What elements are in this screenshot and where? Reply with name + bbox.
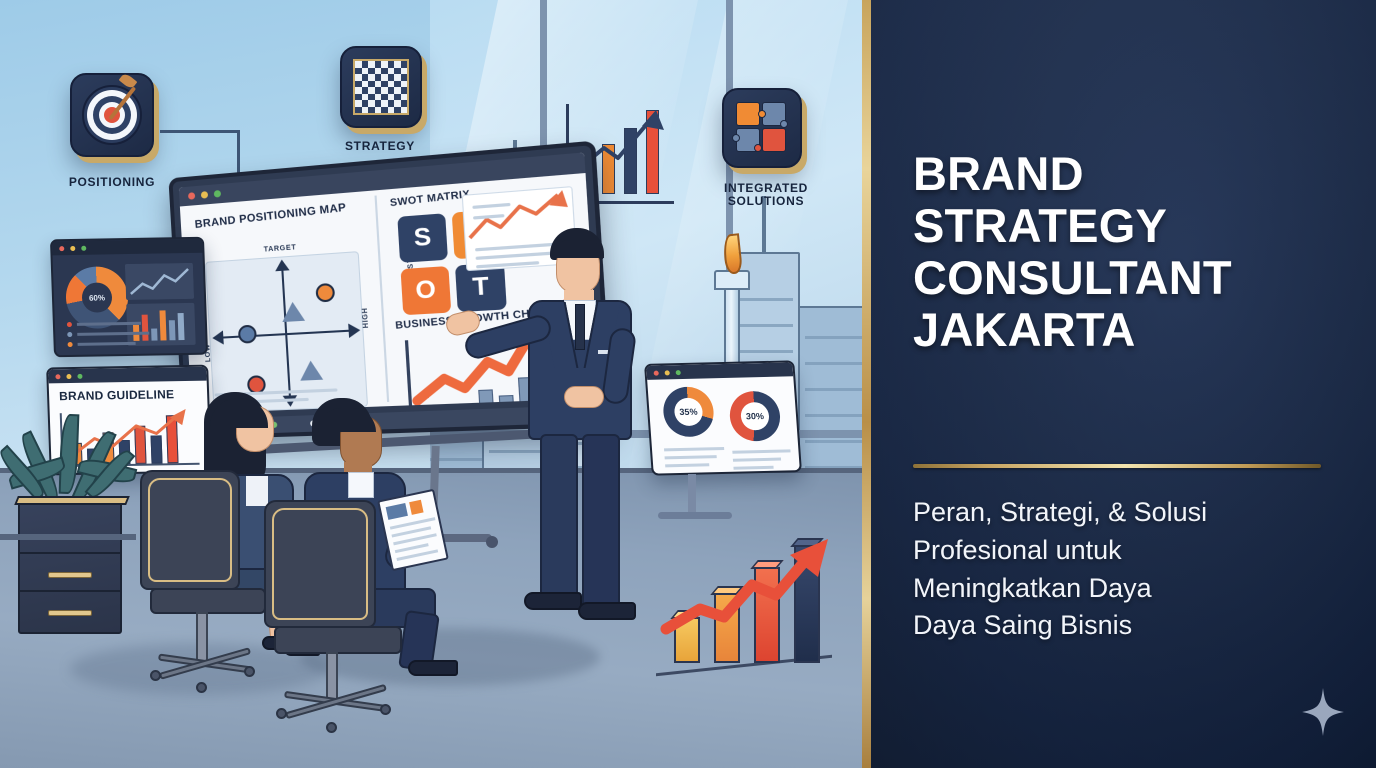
presenter-person bbox=[502, 228, 662, 648]
hair-front bbox=[552, 240, 604, 258]
resting-hand bbox=[564, 386, 604, 408]
swot-matrix-title: SWOT MATRIX bbox=[389, 189, 470, 210]
baseboard bbox=[0, 534, 136, 540]
brand-guideline-title: BRAND GUIDELINE bbox=[59, 387, 175, 403]
strategy-icon-tile[interactable] bbox=[340, 46, 422, 128]
donut-value-2: 30% bbox=[740, 402, 770, 431]
office-chair-2 bbox=[260, 500, 420, 740]
positioning-icon-tile[interactable] bbox=[70, 73, 154, 157]
line-chart bbox=[125, 263, 194, 300]
shoe-left bbox=[524, 592, 582, 610]
close-dot-icon[interactable] bbox=[59, 246, 64, 251]
connector-line bbox=[160, 130, 240, 133]
positioning-tile-label: POSITIONING bbox=[52, 176, 172, 189]
armrest bbox=[274, 626, 402, 654]
minimize-dot-icon[interactable] bbox=[201, 191, 208, 199]
donut-chart-1: 35% bbox=[662, 386, 716, 437]
headline-line-3: CONSULTANT bbox=[913, 252, 1363, 304]
axis-label-top: TARGET bbox=[264, 244, 297, 253]
kpi-card-base bbox=[658, 512, 732, 519]
minimize-dot-icon[interactable] bbox=[70, 245, 75, 250]
card-titlebar bbox=[52, 239, 202, 256]
maximize-dot-icon[interactable] bbox=[77, 373, 82, 378]
brand-positioning-map-title: BRAND POSITIONING MAP bbox=[194, 202, 346, 231]
map-marker bbox=[238, 325, 257, 344]
minimize-dot-icon[interactable] bbox=[665, 370, 670, 375]
stand-caster bbox=[486, 536, 498, 548]
chessboard-icon bbox=[353, 59, 409, 115]
text-panel: BRAND STRATEGY CONSULTANT JAKARTA Peran,… bbox=[871, 0, 1376, 768]
map-marker bbox=[281, 301, 305, 322]
tie bbox=[575, 304, 585, 350]
integrated-solutions-tile-label: INTEGRATED SOLUTIONS bbox=[710, 182, 822, 208]
donut-chart-2: 30% bbox=[728, 391, 782, 442]
poster-canvas: POSITIONING STRATEGY bbox=[0, 0, 1376, 768]
subtitle-line-4: Daya Saing Bisnis bbox=[913, 607, 1313, 645]
card-titlebar bbox=[646, 362, 793, 380]
leg-left bbox=[540, 434, 578, 600]
headline-line-1: BRAND bbox=[913, 148, 1363, 200]
axis-arrow bbox=[212, 330, 224, 345]
armrest bbox=[150, 588, 266, 614]
headline-line-2: STRATEGY bbox=[913, 200, 1363, 252]
puzzle-pieces-icon bbox=[736, 102, 788, 154]
sparkle-icon bbox=[1302, 688, 1344, 736]
brand-positioning-panel: BRAND POSITIONING MAP TARGET TARGET LOW … bbox=[188, 196, 383, 409]
monas-flame bbox=[722, 233, 743, 275]
gold-accent-rule bbox=[913, 464, 1321, 468]
close-dot-icon[interactable] bbox=[188, 192, 195, 200]
map-marker bbox=[315, 283, 335, 303]
close-dot-icon[interactable] bbox=[55, 374, 60, 379]
office-chair-1 bbox=[134, 470, 274, 700]
leg-right bbox=[582, 434, 620, 610]
shirt-collar bbox=[348, 472, 374, 498]
swot-cell-s: S bbox=[397, 213, 448, 263]
floor-growth-chart bbox=[652, 545, 852, 685]
filing-cabinet[interactable] bbox=[18, 502, 122, 634]
page-title: BRAND STRATEGY CONSULTANT JAKARTA bbox=[913, 148, 1363, 356]
headline-line-4: JAKARTA bbox=[913, 304, 1363, 356]
drawer-handle[interactable] bbox=[48, 610, 92, 616]
axis-arrow bbox=[275, 259, 290, 271]
card-titlebar bbox=[48, 367, 206, 384]
donut-value-label: 60% bbox=[81, 282, 112, 313]
growth-arrow-icon bbox=[652, 539, 852, 679]
target-dartboard-icon bbox=[82, 85, 142, 145]
strategy-tile-label: STRATEGY bbox=[330, 140, 430, 153]
map-marker bbox=[299, 360, 323, 381]
donut-chart: 60% bbox=[65, 266, 129, 329]
subtitle-line-1: Peran, Strategi, & Solusi bbox=[913, 494, 1313, 532]
axis-label-right: HIGH bbox=[362, 307, 371, 328]
gold-vertical-divider bbox=[862, 0, 871, 768]
page-subtitle: Peran, Strategi, & Solusi Profesional un… bbox=[913, 494, 1313, 645]
minimize-dot-icon[interactable] bbox=[66, 374, 71, 379]
illustration-panel: POSITIONING STRATEGY bbox=[0, 0, 866, 768]
axis-arrow bbox=[348, 323, 361, 338]
subtitle-line-3: Meningkatkan Daya bbox=[913, 570, 1313, 608]
analytics-dashboard-card[interactable]: 60% bbox=[50, 237, 208, 358]
donut-value-1: 35% bbox=[674, 398, 704, 427]
kpi-donuts-card[interactable]: 35% 30% bbox=[644, 360, 802, 475]
drawer-handle[interactable] bbox=[48, 572, 92, 578]
maximize-dot-icon[interactable] bbox=[81, 245, 86, 250]
positioning-map-plot: TARGET TARGET LOW HIGH bbox=[205, 251, 368, 413]
maximize-dot-icon[interactable] bbox=[676, 370, 681, 375]
shoe-right bbox=[578, 602, 636, 620]
integrated-solutions-icon-tile[interactable] bbox=[722, 88, 802, 168]
maximize-dot-icon[interactable] bbox=[214, 190, 221, 198]
subtitle-line-2: Profesional untuk bbox=[913, 532, 1313, 570]
